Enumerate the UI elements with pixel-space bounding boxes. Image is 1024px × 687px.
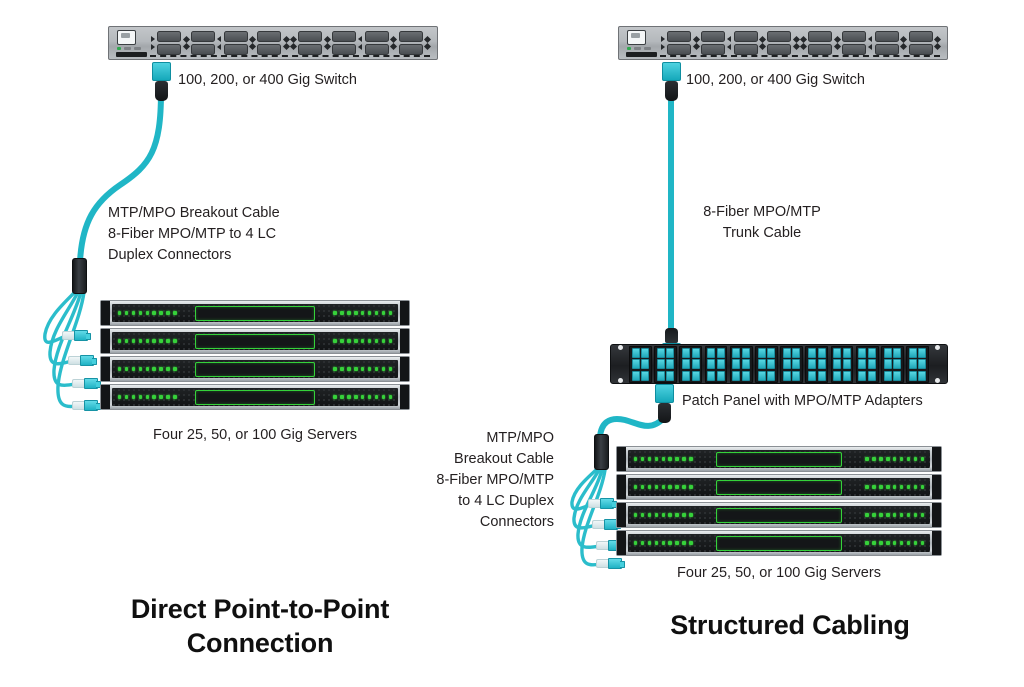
port-marker [661, 36, 665, 50]
server-unit [100, 328, 410, 354]
switch-port [909, 44, 933, 55]
drive-led-row [865, 541, 924, 544]
server-center-bay [716, 480, 842, 495]
rack-ear [101, 301, 110, 325]
port-group [734, 31, 758, 55]
switch-port [909, 31, 933, 42]
drive-led-row [865, 485, 924, 488]
lc-boot [62, 331, 74, 340]
switch-port [875, 44, 899, 55]
switch-port [257, 44, 281, 55]
lc-boot [588, 499, 600, 508]
left-switch-label: 100, 200, or 400 Gig Switch [178, 70, 438, 91]
patch-panel-label: Patch Panel with MPO/MTP Adapters [682, 391, 982, 412]
server-center-bay [195, 390, 315, 405]
lc-duplex-connector-icon [72, 400, 98, 411]
switch-port [701, 44, 725, 55]
right-switch-underline [660, 55, 940, 57]
port-group [191, 31, 215, 55]
led-indicator [117, 47, 121, 50]
rack-ear [617, 531, 626, 555]
server-front-panel [628, 534, 930, 552]
switch-port [667, 44, 691, 55]
rack-ear [101, 385, 110, 409]
switch-port [191, 44, 215, 55]
lc-tip [74, 330, 88, 341]
port-group [842, 31, 866, 55]
port-marker [901, 37, 906, 49]
port-marker [250, 37, 255, 49]
left-mpo-connector-icon [152, 62, 171, 101]
server-unit [100, 300, 410, 326]
lc-duplex-connector-icon [592, 519, 618, 530]
port-group [767, 31, 791, 55]
lc-tip [84, 400, 98, 411]
switch-management-area [625, 30, 659, 57]
led-indicator [627, 47, 631, 50]
adapter-module [780, 346, 803, 383]
led-indicator [134, 47, 141, 50]
rack-ear [932, 503, 941, 527]
rack-ear [932, 447, 941, 471]
rack-ear [617, 475, 626, 499]
server-center-bay [716, 508, 842, 523]
drive-led-row [333, 367, 392, 370]
drive-led-row [634, 513, 693, 516]
port-marker [184, 37, 189, 49]
drive-led-row [118, 367, 177, 370]
mpo-body [662, 62, 681, 81]
server-center-bay [195, 362, 315, 377]
drive-led-row [118, 395, 177, 398]
adapter-module [629, 346, 652, 383]
adapter-module [679, 346, 702, 383]
server-center-bay [195, 306, 315, 321]
console-port-icon [117, 30, 136, 45]
drive-led-row [865, 457, 924, 460]
right-mpo-connector-panel-bottom-icon [655, 384, 674, 423]
rack-ear [617, 503, 626, 527]
switch-port [767, 31, 791, 42]
port-marker [760, 37, 765, 49]
switch-port [332, 31, 356, 42]
mpo-boot [665, 328, 678, 343]
drive-led-row [634, 485, 693, 488]
lc-boot [72, 379, 84, 388]
server-front-panel [112, 388, 398, 406]
adapter-module [881, 346, 904, 383]
right-section-title: Structured Cabling [630, 608, 950, 642]
drive-led-row [333, 395, 392, 398]
switch-port [157, 31, 181, 42]
server-center-bay [716, 536, 842, 551]
port-group [667, 31, 691, 55]
port-group [701, 31, 725, 55]
drive-led-row [118, 311, 177, 314]
screw-icon [935, 345, 940, 350]
diagram-canvas: 100, 200, or 400 Gig Switch MTP/MPO Brea… [0, 0, 1024, 687]
port-marker [835, 37, 840, 49]
switch-port [808, 31, 832, 42]
left-server-stack [100, 300, 410, 410]
screw-icon [618, 378, 623, 383]
switch-port [191, 31, 215, 42]
console-port-icon [627, 30, 646, 45]
lc-duplex-connector-icon [62, 330, 88, 341]
port-group [399, 31, 423, 55]
switch-port [365, 44, 389, 55]
mpo-boot [155, 81, 168, 101]
adapter-module [906, 346, 929, 383]
port-marker [217, 36, 221, 50]
server-center-bay [195, 334, 315, 349]
switch-port [257, 31, 281, 42]
rack-ear-right [932, 341, 943, 387]
server-center-bay [716, 452, 842, 467]
left-section-title: Direct Point-to-Point Connection [80, 592, 440, 660]
right-mpo-connector-switch-icon [662, 62, 681, 101]
adapter-module [755, 346, 778, 383]
rack-ear [400, 385, 409, 409]
port-marker [284, 37, 289, 49]
rack-ear [400, 329, 409, 353]
adapter-module [654, 346, 677, 383]
adapter-module [705, 346, 728, 383]
rack-ear [101, 357, 110, 381]
screw-icon [935, 378, 940, 383]
port-marker [868, 36, 872, 50]
port-group [157, 31, 181, 55]
switch-port [224, 44, 248, 55]
switch-port [224, 31, 248, 42]
switch-port [701, 31, 725, 42]
port-marker [425, 37, 430, 49]
drive-led-row [865, 513, 924, 516]
switch-management-area [115, 30, 149, 57]
port-group [332, 31, 356, 55]
port-marker [694, 37, 699, 49]
mpo-body [655, 384, 674, 403]
adapter-module [831, 346, 854, 383]
server-unit [616, 502, 942, 528]
lc-tip [84, 378, 98, 389]
switch-port [767, 44, 791, 55]
port-group [224, 31, 248, 55]
switch-port [734, 44, 758, 55]
drive-led-row [333, 311, 392, 314]
left-furcation-body-icon [72, 258, 87, 294]
drive-led-row [634, 541, 693, 544]
led-indicator [644, 47, 651, 50]
port-group [909, 31, 933, 55]
rack-ear-left [615, 341, 626, 387]
lc-duplex-connector-icon [68, 355, 94, 366]
switch-port [842, 44, 866, 55]
switch-port [157, 44, 181, 55]
lc-boot [72, 401, 84, 410]
led-indicator [124, 47, 131, 50]
drive-led-row [634, 457, 693, 460]
switch-status-leds [117, 47, 149, 50]
port-group [808, 31, 832, 55]
mpo-boot [658, 403, 671, 423]
server-front-panel [628, 450, 930, 468]
server-unit [616, 530, 942, 556]
switch-port [365, 31, 389, 42]
right-trunk-label: 8-Fiber MPO/MTP Trunk Cable [672, 202, 852, 244]
switch-port [399, 44, 423, 55]
port-group [365, 31, 389, 55]
server-unit [616, 474, 942, 500]
patch-panel [610, 344, 948, 384]
led-indicator [634, 47, 641, 50]
server-front-panel [112, 360, 398, 378]
lc-duplex-connector-icon [588, 498, 614, 509]
drive-led-row [118, 339, 177, 342]
adapter-module [805, 346, 828, 383]
server-unit [100, 384, 410, 410]
right-servers-label: Four 25, 50, or 100 Gig Servers [616, 563, 942, 584]
switch-port [808, 44, 832, 55]
lc-boot [592, 520, 604, 529]
lc-duplex-connector-icon [72, 378, 98, 389]
port-group [257, 31, 281, 55]
port-marker [794, 37, 799, 49]
rack-ear [101, 329, 110, 353]
lc-boot [596, 541, 608, 550]
rack-ear [400, 301, 409, 325]
switch-port [332, 44, 356, 55]
switch-port [667, 31, 691, 42]
left-switch-underline [150, 55, 430, 57]
lc-tip [80, 355, 94, 366]
lc-boot [596, 559, 608, 568]
switch-port [399, 31, 423, 42]
left-servers-label: Four 25, 50, or 100 Gig Servers [100, 425, 410, 446]
rack-ear [932, 475, 941, 499]
rack-ear [617, 447, 626, 471]
port-group [298, 31, 322, 55]
port-marker [935, 37, 940, 49]
adapter-module [856, 346, 879, 383]
switch-port [875, 31, 899, 42]
switch-port [842, 31, 866, 42]
right-furcation-body-icon [594, 434, 609, 470]
server-unit [616, 446, 942, 472]
right-cable-label: MTP/MPO Breakout Cable 8-Fiber MPO/MTP t… [412, 428, 554, 533]
screw-icon [618, 345, 623, 350]
right-switch-label: 100, 200, or 400 Gig Switch [686, 70, 956, 91]
drive-led-row [333, 339, 392, 342]
server-front-panel [628, 506, 930, 524]
lc-tip [600, 498, 614, 509]
server-unit [100, 356, 410, 382]
port-marker [325, 37, 330, 49]
right-server-stack [616, 446, 942, 556]
mpo-boot [665, 81, 678, 101]
switch-port [298, 31, 322, 42]
switch-port [734, 31, 758, 42]
rack-ear [932, 531, 941, 555]
mpo-body [152, 62, 171, 81]
server-front-panel [112, 332, 398, 350]
port-marker [291, 37, 296, 49]
port-marker [801, 37, 806, 49]
lc-boot [68, 356, 80, 365]
server-front-panel [628, 478, 930, 496]
switch-port [298, 44, 322, 55]
port-marker [151, 36, 155, 50]
left-cable-label: MTP/MPO Breakout Cable 8-Fiber MPO/MTP t… [108, 203, 398, 266]
port-marker [727, 36, 731, 50]
rack-ear [400, 357, 409, 381]
switch-label-strip [626, 52, 657, 57]
server-front-panel [112, 304, 398, 322]
port-group [875, 31, 899, 55]
adapter-module-row [629, 345, 929, 383]
adapter-module [730, 346, 753, 383]
port-marker [391, 37, 396, 49]
port-marker [358, 36, 362, 50]
switch-label-strip [116, 52, 147, 57]
switch-status-leds [627, 47, 659, 50]
